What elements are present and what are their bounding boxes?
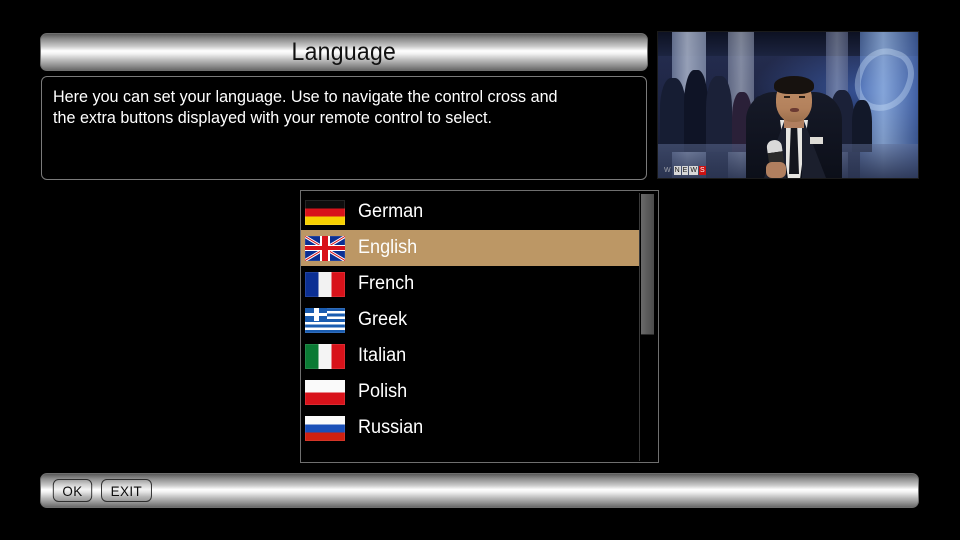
channel-logo-prefix: W [664,167,671,174]
channel-logo-watermark: W N E W S [664,166,706,175]
flag-france-icon [305,272,345,297]
language-item-polish[interactable]: Polish [301,374,643,410]
language-item-greek[interactable]: Greek [301,302,643,338]
flag-italy-icon [305,344,345,369]
language-item-russian[interactable]: Russian [301,410,643,446]
language-label: Greek [358,309,407,331]
language-item-french[interactable]: French [301,266,643,302]
flag-poland-icon [305,380,345,405]
title-bar: Language [40,33,648,71]
description-panel: Here you can set your language. Use to n… [41,76,647,180]
flag-detail [305,246,345,250]
flag-detail [305,313,327,316]
footer-bar: OK EXIT [40,473,919,508]
language-label: Russian [358,417,423,439]
language-label: English [358,237,417,259]
channel-logo-letter: W [689,166,698,175]
language-item-german[interactable]: German [301,194,643,230]
flag-germany-icon [305,200,345,225]
language-item-english[interactable]: English [301,230,643,266]
page-title: Language [292,38,397,67]
language-list-panel: German English French [300,190,659,463]
language-label: Italian [358,345,406,367]
language-item-italian[interactable]: Italian [301,338,643,374]
preview-crowd-figure [684,70,708,152]
flag-united-kingdom-icon [305,236,345,261]
tv-settings-screen: Language Here you can set your language.… [0,0,960,540]
language-list-scrollbar[interactable] [639,193,655,461]
preview-reporter-hand [766,162,786,178]
language-label: French [358,273,414,295]
flag-greece-icon [305,308,345,333]
preview-reporter-eye [784,96,790,98]
live-tv-preview[interactable]: W N E W S [657,31,919,179]
language-list: German English French [301,194,643,446]
channel-logo-letter: S [699,166,706,175]
exit-button[interactable]: EXIT [101,479,152,502]
language-label: Polish [358,381,407,403]
channel-logo-letter: E [682,166,689,175]
preview-reporter-mouth [790,108,799,112]
flag-russia-icon [305,416,345,441]
preview-reporter-hair [774,76,814,94]
preview-reporter-pocket-square [810,137,823,144]
preview-crowd-figure [706,76,732,152]
preview-crowd-figure [660,78,686,152]
description-text: Here you can set your language. Use to n… [53,86,606,128]
scrollbar-thumb[interactable] [641,194,654,335]
ok-button[interactable]: OK [53,479,92,502]
channel-logo-letter: N [674,166,681,175]
preview-reporter-eye [799,96,805,98]
language-label: German [358,201,423,223]
